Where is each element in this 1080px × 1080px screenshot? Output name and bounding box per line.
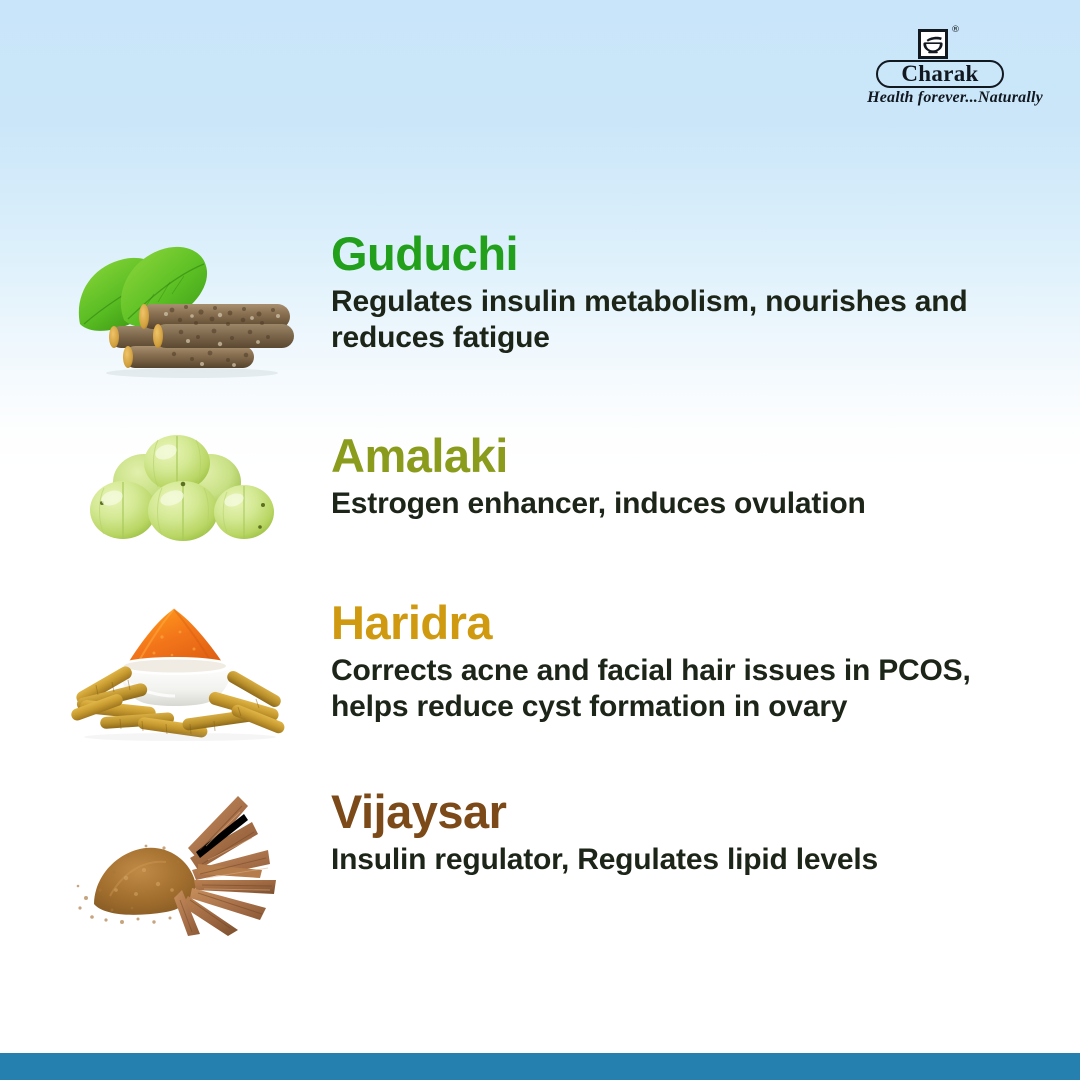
registered-trademark-symbol: ® [951, 26, 960, 35]
herb-text-block: Amalaki Estrogen enhancer, induces ovula… [331, 430, 1051, 522]
herb-text-block: Haridra Corrects acne and facial hair is… [331, 597, 1051, 725]
bottom-accent-bar [0, 1053, 1080, 1080]
herb-text-block: Vijaysar Insulin regulator, Regulates li… [331, 786, 1051, 878]
brand-tagline: Health forever...Naturally [860, 89, 1050, 107]
brand-name-text: Charak [878, 62, 1002, 86]
vijaysar-powder-and-bark-image [70, 786, 300, 936]
brand-name-oval: Charak [876, 60, 1004, 88]
infographic-page: ® Charak Health forever...Naturally [0, 0, 1080, 1080]
mortar-and-pestle-icon: ® [918, 26, 962, 62]
herb-text-block: Guduchi Regulates insulin metabolism, no… [331, 228, 1051, 356]
herb-description: Insulin regulator, Regulates lipid level… [331, 842, 1031, 878]
herb-name: Amalaki [331, 430, 1051, 482]
charak-brand-logo: ® Charak Health forever...Naturally [860, 26, 1050, 108]
herb-name: Guduchi [331, 228, 1051, 280]
herb-name: Haridra [331, 597, 1051, 649]
amalaki-gooseberries-image [78, 430, 278, 550]
herb-description: Estrogen enhancer, induces ovulation [331, 486, 1031, 522]
herb-description: Corrects acne and facial hair issues in … [331, 653, 1031, 725]
herb-name: Vijaysar [331, 786, 1051, 838]
guduchi-stems-and-leaves-image [62, 228, 300, 378]
herb-description: Regulates insulin metabolism, nourishes … [331, 284, 1031, 356]
haridra-turmeric-bowl-image [62, 597, 300, 742]
